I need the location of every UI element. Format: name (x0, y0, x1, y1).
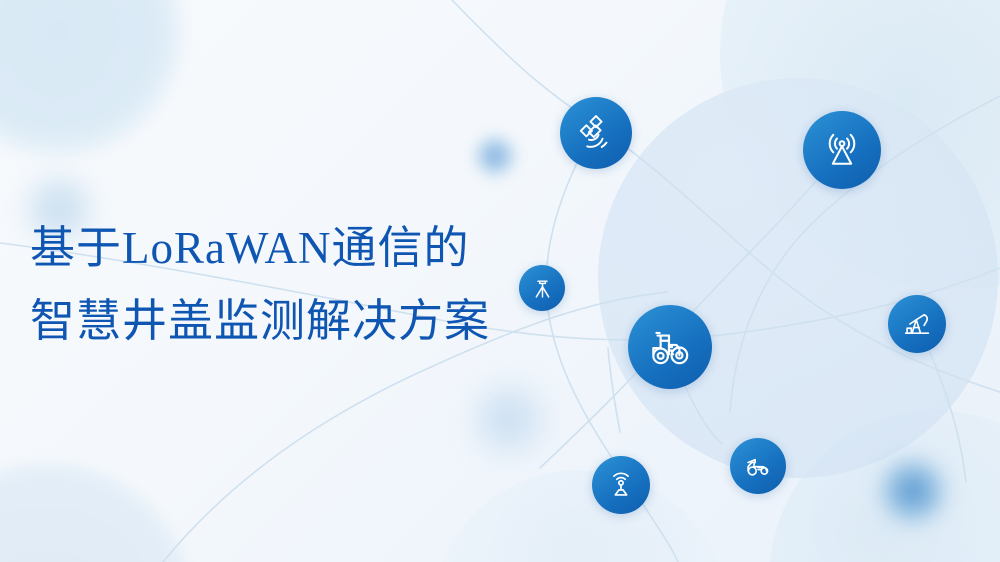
node-oil-pumpjack[interactable] (888, 295, 946, 353)
background-blob-bottom-left (0, 460, 195, 562)
title-line-1: 基于LoRaWAN通信的 (30, 226, 570, 271)
node-tractor[interactable] (628, 305, 712, 389)
background-dot-upper-center (473, 134, 517, 178)
harvester-icon (741, 449, 775, 483)
background-blob-top-left (0, 0, 185, 159)
node-harvester[interactable] (730, 438, 786, 494)
background-globe-circle (598, 78, 998, 478)
survey-tripod-icon (529, 275, 556, 302)
radio-tower-icon (820, 128, 864, 172)
oil-pumpjack-icon (900, 307, 934, 341)
node-survey-tripod[interactable] (519, 265, 565, 311)
tractor-icon (645, 322, 695, 372)
satellite-icon (575, 112, 617, 154)
node-radio-tower[interactable] (803, 111, 881, 189)
background-blob-center (466, 376, 552, 462)
slide-title: 基于LoRaWAN通信的 智慧井盖监测解决方案 (30, 226, 570, 344)
wifi-beacon-icon (604, 468, 638, 502)
node-satellite[interactable] (560, 97, 632, 169)
node-wifi-beacon[interactable] (592, 456, 650, 514)
background-wash-bottom-center (430, 470, 730, 562)
title-line-2: 智慧井盖监测解决方案 (30, 299, 570, 344)
cover-slide: 基于LoRaWAN通信的 智慧井盖监测解决方案 (0, 0, 1000, 562)
